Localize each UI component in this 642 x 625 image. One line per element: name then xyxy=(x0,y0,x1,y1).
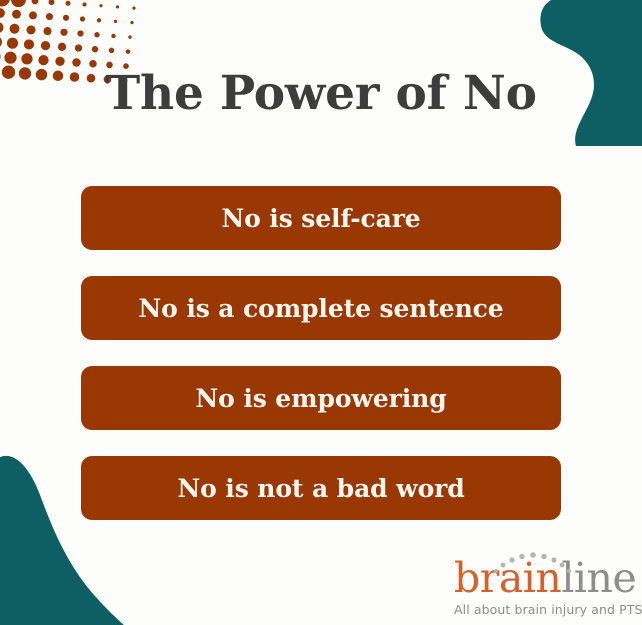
statement-label: No is self-care xyxy=(221,204,420,233)
statement-box: No is not a bad word xyxy=(81,456,561,520)
logo-dot-arc-icon xyxy=(490,547,580,573)
statement-label: No is not a bad word xyxy=(177,474,464,503)
statement-label: No is empowering xyxy=(195,384,446,413)
statement-box: No is a complete sentence xyxy=(81,276,561,340)
page-title: The Power of No xyxy=(0,68,642,120)
statement-box: No is empowering xyxy=(81,366,561,430)
logo-tagline: All about brain injury and PTSD xyxy=(454,602,636,617)
brainline-logo: brainline All about brain injury and PTS… xyxy=(454,558,636,617)
statement-list: No is self-care No is a complete sentenc… xyxy=(81,186,561,546)
statement-box: No is self-care xyxy=(81,186,561,250)
statement-label: No is a complete sentence xyxy=(138,294,503,323)
poster-canvas: The Power of No No is self-care No is a … xyxy=(0,0,642,625)
